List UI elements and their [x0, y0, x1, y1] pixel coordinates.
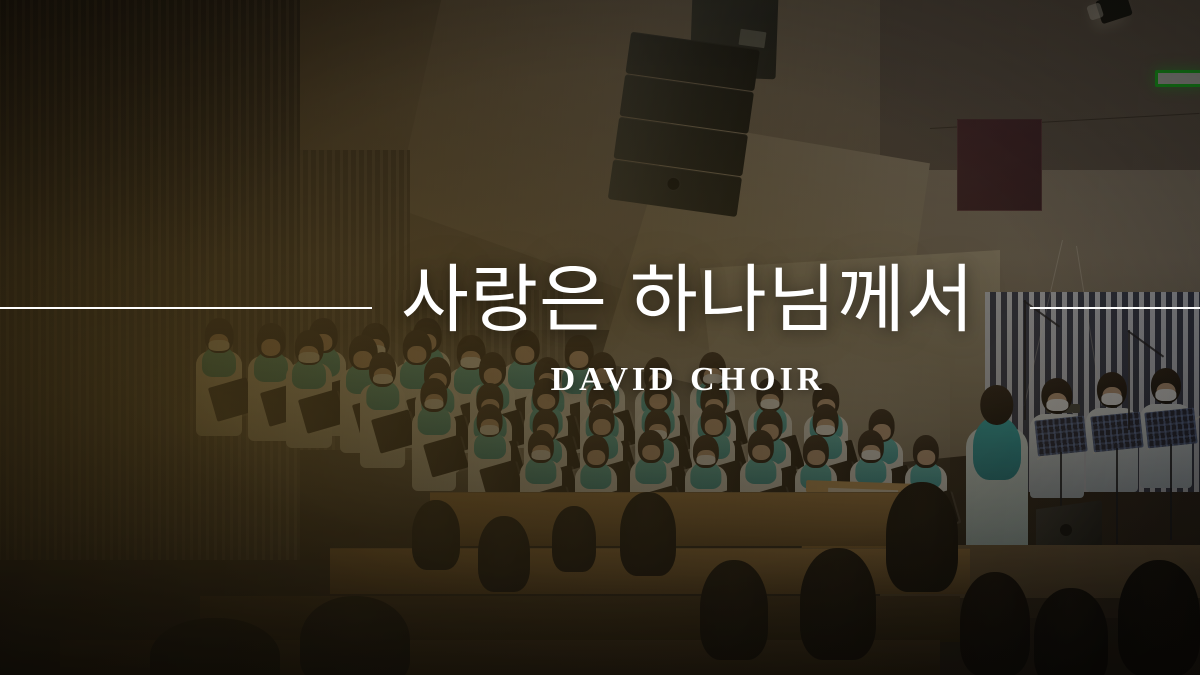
sub-title: DAVID CHOIR [88, 361, 1200, 399]
title-card-canvas: 사랑은 하나님께서 DAVID CHOIR [0, 0, 1200, 675]
main-title: 사랑은 하나님께서 [88, 260, 1200, 340]
title-overlay: 사랑은 하나님께서 DAVID CHOIR [0, 0, 1200, 675]
